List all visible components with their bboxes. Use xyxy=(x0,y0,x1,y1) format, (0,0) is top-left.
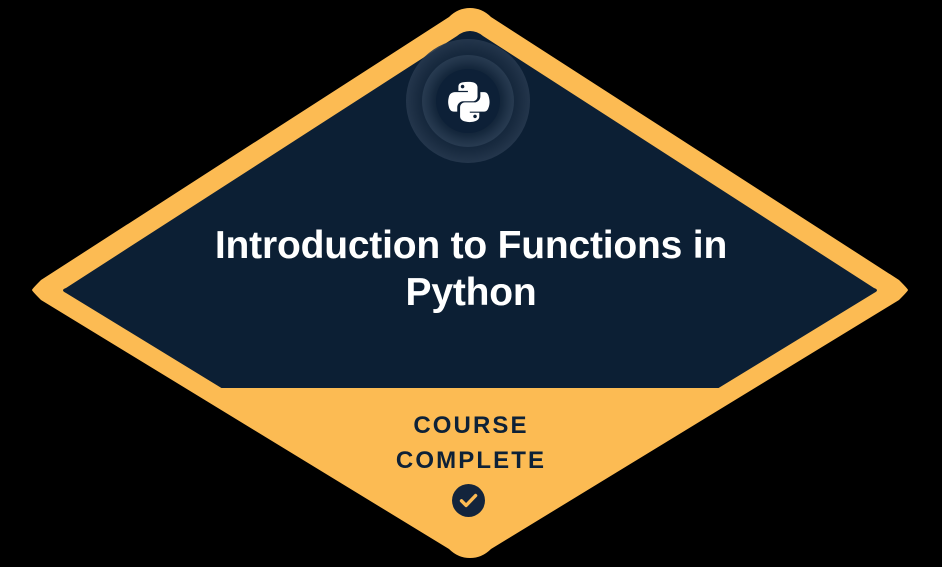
completion-label-line-1: COURSE xyxy=(271,408,671,443)
check-circle-icon xyxy=(452,484,485,517)
completion-label-line-2: COMPLETE xyxy=(271,443,671,478)
course-title-line-2: Python xyxy=(406,271,537,314)
certificate-badge: Introduction to Functions in Python COUR… xyxy=(0,0,942,567)
course-title: Introduction to Functions in Python xyxy=(171,222,771,316)
course-title-line-1: Introduction to Functions in xyxy=(215,224,727,267)
python-logo-icon xyxy=(446,79,490,123)
completion-status: COURSE COMPLETE xyxy=(271,408,671,478)
